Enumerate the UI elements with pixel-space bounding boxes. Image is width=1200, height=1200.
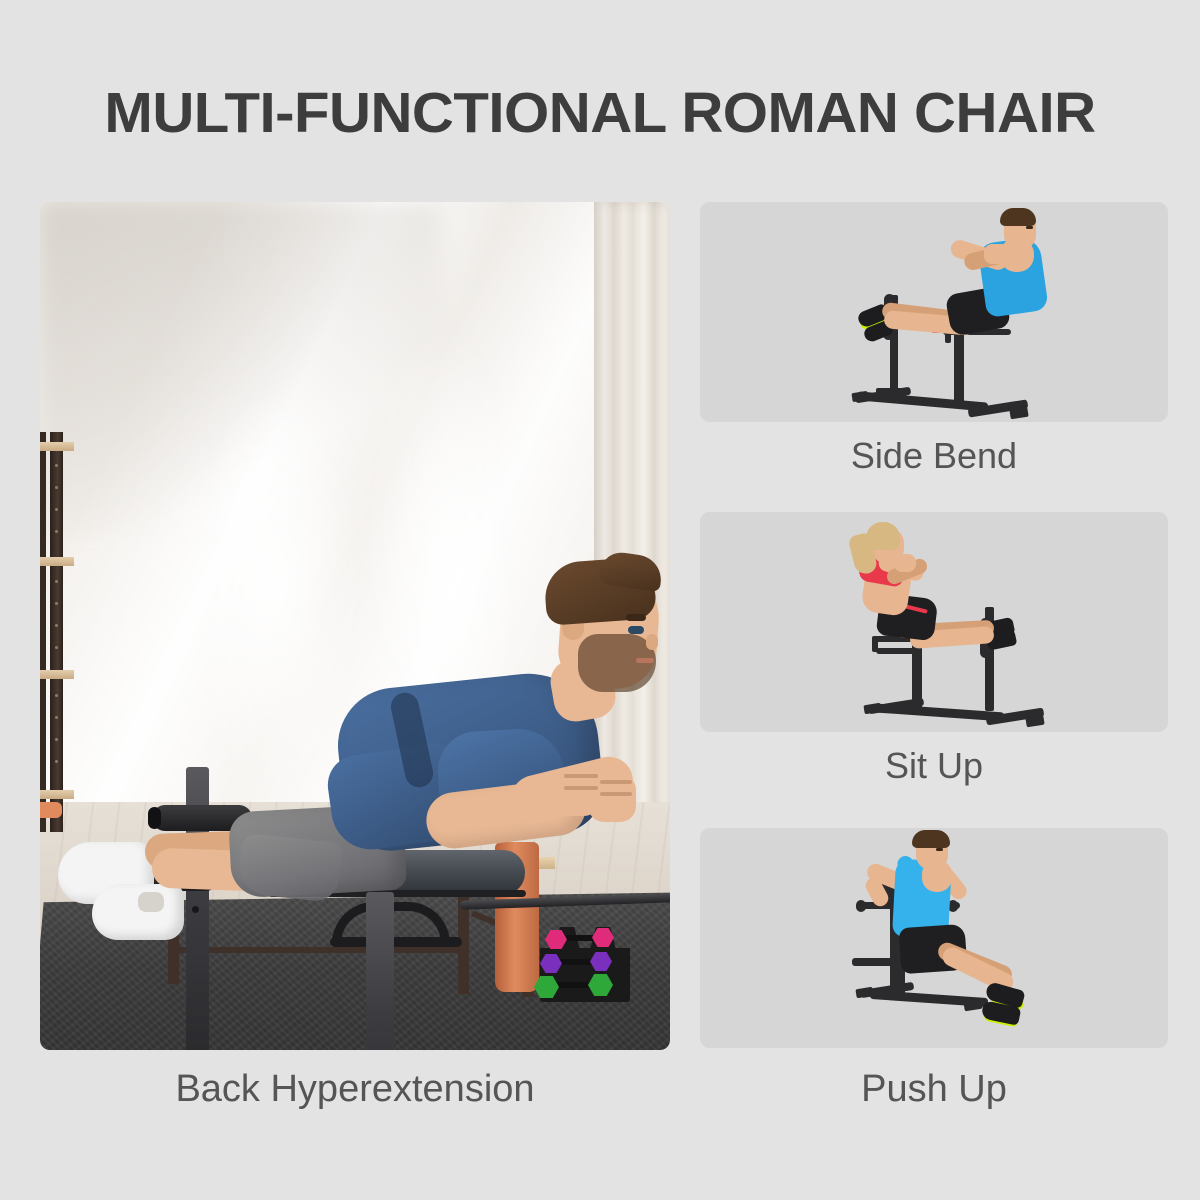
caption-sit-up: Sit Up xyxy=(700,745,1168,787)
front-upright xyxy=(366,892,394,1050)
panel-side-bend xyxy=(700,202,1168,422)
panel-sit-up xyxy=(700,512,1168,732)
beard xyxy=(578,634,656,692)
sunlight-patch-left xyxy=(190,382,360,802)
handle-bar-lower xyxy=(876,648,922,654)
hair xyxy=(912,830,950,848)
foot-pad-front xyxy=(1009,407,1028,420)
page-title: MULTI-FUNCTIONAL ROMAN CHAIR xyxy=(0,80,1200,146)
base-joint xyxy=(876,388,902,396)
handle-grip-left xyxy=(856,900,866,912)
hair xyxy=(1000,208,1036,226)
front-upright xyxy=(954,327,964,405)
foot-pad-front xyxy=(1025,715,1044,728)
main-product-photo-panel xyxy=(40,202,670,1050)
panel-push-up xyxy=(700,828,1168,1048)
sneaker-right xyxy=(92,884,184,940)
caption-push-up: Push Up xyxy=(700,1068,1168,1111)
shelf-item xyxy=(40,802,62,818)
caption-back-hyperextension: Back Hyperextension xyxy=(40,1068,670,1111)
arm-rest-bar xyxy=(852,958,904,966)
foot-pad-front xyxy=(963,999,982,1012)
caption-side-bend: Side Bend xyxy=(700,435,1168,477)
handle-stem xyxy=(872,636,878,652)
